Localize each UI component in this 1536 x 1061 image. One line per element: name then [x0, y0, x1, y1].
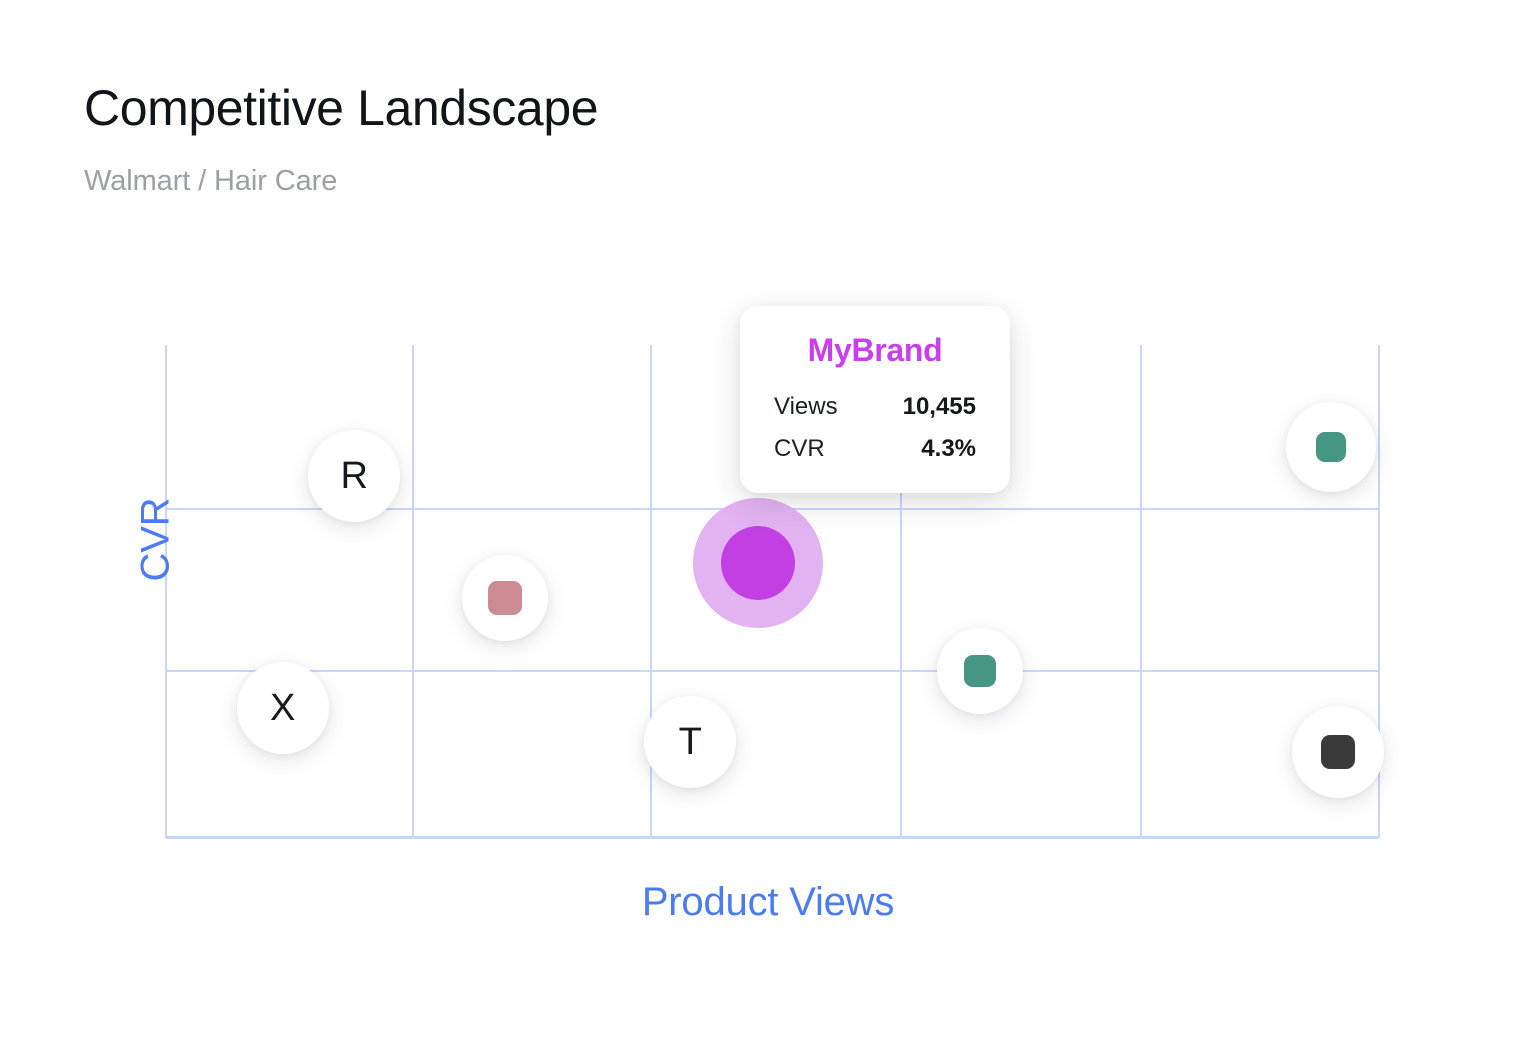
header: Competitive Landscape Walmart / Hair Car…: [84, 82, 598, 198]
tooltip-metric-value: 4.3%: [921, 435, 976, 463]
data-point-swatch-green-square-mid: [964, 655, 996, 687]
tooltip-metric-rows: Views10,455CVR4.3%: [774, 393, 976, 463]
data-point-swatch-green-square-top: [1316, 432, 1346, 462]
gridline-vertical-1: [412, 345, 414, 838]
tooltip-row-cvr: CVR4.3%: [774, 435, 976, 463]
x-axis-line: [165, 836, 1378, 839]
data-point-x[interactable]: X: [237, 662, 329, 754]
tooltip-brand-name: MyBrand: [774, 332, 976, 369]
data-point-dark-square[interactable]: [1292, 706, 1384, 798]
tooltip-metric-label: CVR: [774, 435, 825, 463]
y-axis-title: CVR: [134, 470, 179, 610]
page-subtitle: Walmart / Hair Care: [84, 165, 598, 198]
x-axis-title-wrap: Product Views: [0, 880, 1536, 925]
data-point-letter-t: T: [679, 723, 702, 761]
data-point-swatch-dark-square: [1321, 735, 1355, 769]
data-point-r[interactable]: R: [308, 430, 400, 522]
page-title: Competitive Landscape: [84, 82, 598, 135]
data-point-t[interactable]: T: [644, 696, 736, 788]
data-point-pink-square[interactable]: [462, 555, 548, 641]
data-point-letter-x: X: [270, 689, 295, 727]
brand-tooltip-card[interactable]: MyBrand Views10,455CVR4.3%: [740, 306, 1010, 493]
data-point-swatch-pink-square: [488, 581, 522, 615]
mybrand-core: [721, 526, 795, 600]
gridline-vertical-4: [1140, 345, 1142, 838]
tooltip-metric-value: 10,455: [903, 393, 976, 421]
tooltip-metric-label: Views: [774, 393, 838, 421]
data-point-green-square-mid[interactable]: [937, 628, 1023, 714]
gridline-horizontal-1: [165, 670, 1378, 672]
tooltip-row-views: Views10,455: [774, 393, 976, 421]
data-point-mybrand[interactable]: [693, 498, 823, 628]
x-axis-title: Product Views: [0, 880, 894, 925]
data-point-green-square-top[interactable]: [1286, 402, 1376, 492]
data-point-letter-r: R: [340, 457, 367, 495]
